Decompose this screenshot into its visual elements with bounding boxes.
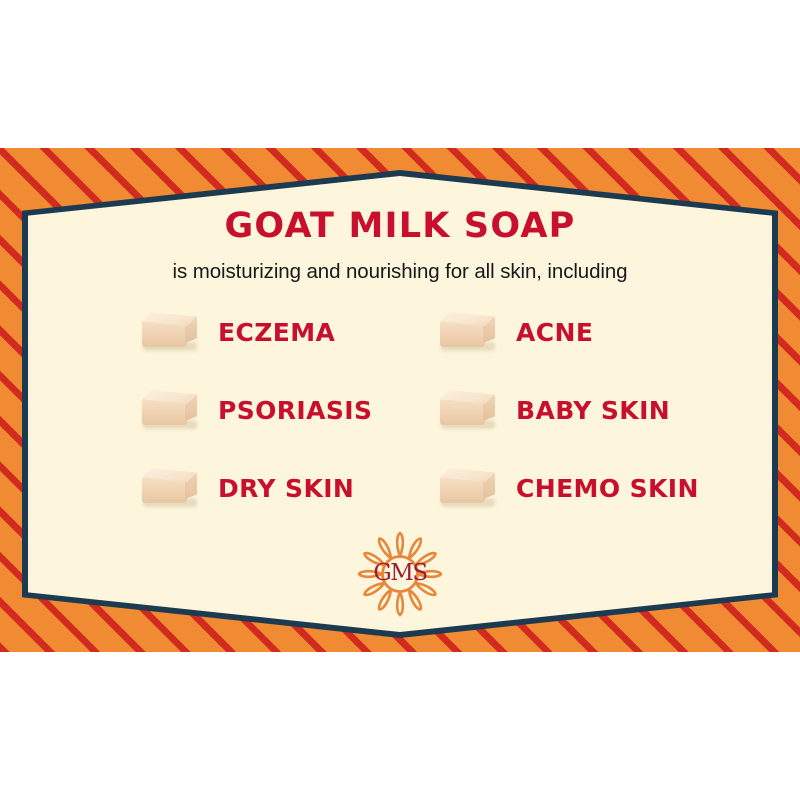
soap-bar-icon <box>438 308 500 356</box>
condition-item-chemo-skin: CHEMO SKIN <box>438 460 700 516</box>
soap-bar-icon <box>438 464 500 512</box>
condition-item-psoriasis: PSORIASIS <box>140 382 402 438</box>
condition-item-dry-skin: DRY SKIN <box>140 460 402 516</box>
condition-item-eczema: ECZEMA <box>140 304 402 360</box>
soap-bar-icon <box>140 386 202 434</box>
poster-canvas: GOAT MILK SOAP is moisturizing and nouri… <box>0 0 800 800</box>
poster-content: GOAT MILK SOAP is moisturizing and nouri… <box>28 176 772 632</box>
condition-item-acne: ACNE <box>438 304 700 360</box>
condition-label: CHEMO SKIN <box>516 474 699 503</box>
condition-label: ACNE <box>516 318 593 347</box>
page-title: GOAT MILK SOAP <box>28 206 772 246</box>
soap-bar-icon <box>140 464 202 512</box>
soap-bar-icon <box>438 386 500 434</box>
page-subtitle: is moisturizing and nourishing for all s… <box>28 260 772 284</box>
logo-monogram: GMS <box>354 528 446 620</box>
condition-label: BABY SKIN <box>516 396 670 425</box>
condition-label: DRY SKIN <box>218 474 354 503</box>
sunburst-logo-icon: GMS <box>354 528 446 620</box>
soap-bar-icon <box>140 308 202 356</box>
condition-label: ECZEMA <box>218 318 335 347</box>
condition-label: PSORIASIS <box>218 396 372 425</box>
condition-item-baby-skin: BABY SKIN <box>438 382 700 438</box>
conditions-grid: ECZEMA ACNE PSORIASIS <box>140 304 700 516</box>
